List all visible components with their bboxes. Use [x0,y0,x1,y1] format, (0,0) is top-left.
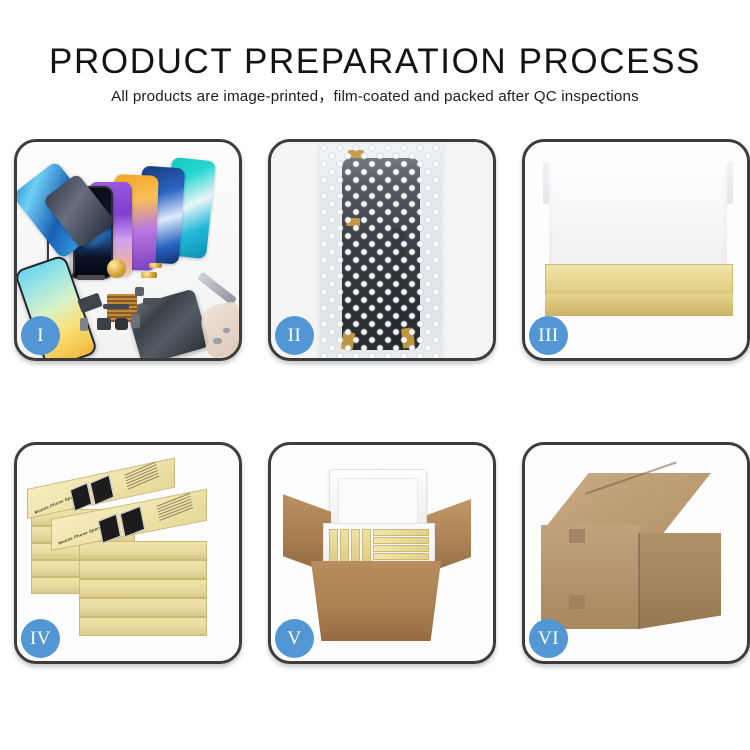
earpiece-mesh [77,275,105,280]
packed-retail-boxes [329,529,429,565]
step-badge-1: I [21,316,60,355]
stacked-box-r5 [79,617,207,636]
bubble-texture [320,144,442,358]
process-step-panel-3[interactable]: III [522,139,750,361]
process-step-grid: I II III [14,139,738,703]
gold-connector-a [141,272,157,278]
small-screw-a [213,338,222,344]
step-badge-6: VI [529,619,568,658]
stacked-box-r4 [79,598,207,617]
box-product-image-1b [90,475,115,506]
step-badge-5: V [275,619,314,658]
step-badge-3: III [529,316,568,355]
bubble-wrap-bag [320,144,442,358]
carton-tape-upper [569,529,585,543]
carton-tape-lower [569,595,585,609]
carton-body [311,561,441,641]
box-product-image-2b [120,506,145,538]
speaker-component [107,259,126,278]
process-step-panel-4[interactable]: Mobile Phone Spare Parts Mobile Phone Sp… [14,442,242,664]
carton-vertical-edge [638,533,640,629]
antenna-strip [143,298,161,305]
kraft-box-front [545,294,733,316]
box-text-lines-1 [124,461,159,491]
camera-module [135,287,144,296]
carton-front-face [541,525,639,629]
stacked-box-r2 [79,560,207,579]
step-badge-4: IV [21,619,60,658]
process-step-panel-5[interactable]: V [268,442,496,664]
step-badge-2: II [275,316,314,355]
process-step-panel-1[interactable]: I [14,139,242,361]
carton-side-face [639,533,721,629]
taptic-engine [97,318,111,330]
stacked-box-r3 [79,579,207,598]
sim-tray [80,318,88,331]
gold-connector-b [149,263,162,268]
stacked-box-r1 [79,541,207,560]
small-screw-b [223,328,230,333]
box-text-lines-2 [157,493,194,523]
process-step-panel-2[interactable]: II [268,139,496,361]
vibration-motor [115,318,128,330]
page-subtitle: All products are image-printed，film-coat… [0,87,750,107]
process-step-panel-6[interactable]: VI [522,442,750,664]
display-cable [103,304,129,309]
page-title: PRODUCT PREPARATION PROCESS [0,42,750,82]
screw-set [131,314,140,328]
